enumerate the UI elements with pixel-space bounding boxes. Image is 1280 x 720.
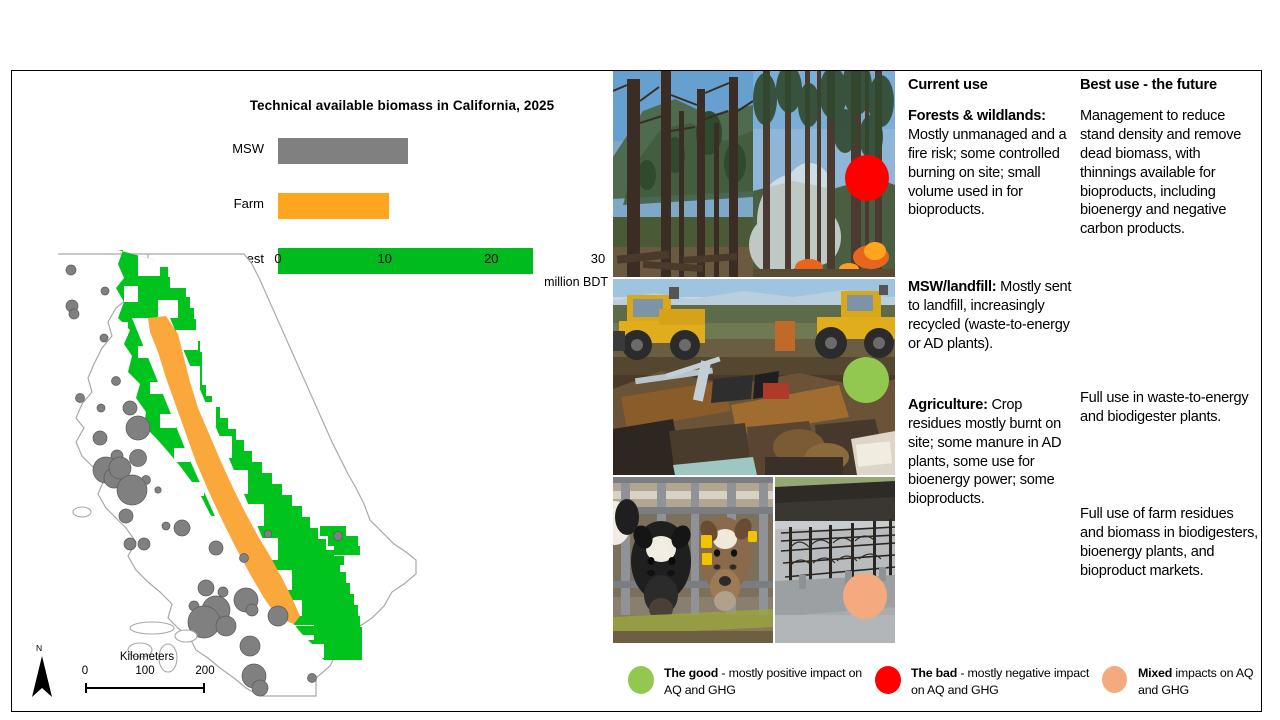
current-use-msw-title: MSW/landfill: xyxy=(908,279,996,295)
current-use-agriculture-title: Agriculture: xyxy=(908,397,988,413)
current-use-forests: Forests & wildlands: Mostly unmanaged an… xyxy=(908,107,1076,220)
msw-site xyxy=(126,416,150,440)
x-tick: 30 xyxy=(591,251,605,266)
current-use-forests-body: Mostly unmanaged and a fire risk; some c… xyxy=(908,127,1066,219)
left-panel: Technical available biomass in Californi… xyxy=(12,71,612,711)
scale-caption: Kilometers xyxy=(67,651,227,663)
impact-dot-good xyxy=(843,357,889,403)
msw-site xyxy=(101,287,109,295)
msw-site xyxy=(119,509,133,523)
msw-site xyxy=(155,487,161,493)
msw-site xyxy=(162,522,170,530)
legend-text-mixed: Mixed impacts on AQ and GHG xyxy=(1138,665,1272,698)
msw-site xyxy=(76,394,85,403)
best-use-column: Best use - the future Management to redu… xyxy=(1080,77,1260,581)
north-label: N xyxy=(36,643,42,653)
legend-text-good: The good - mostly positive impact on AQ … xyxy=(664,665,878,698)
msw-site xyxy=(124,538,136,550)
legend-item-good: The good - mostly positive impact on AQ … xyxy=(628,663,878,709)
bar-fill-farm xyxy=(278,193,389,219)
msw-site xyxy=(138,538,150,550)
msw-site xyxy=(123,401,137,415)
msw-site xyxy=(240,554,249,563)
best-use-heading: Best use - the future xyxy=(1080,77,1260,93)
landfill-photo xyxy=(613,279,895,475)
legend-item-mixed: Mixed impacts on AQ and GHG xyxy=(1102,663,1272,709)
forest-photo xyxy=(613,71,895,277)
current-use-forests-title: Forests & wildlands: xyxy=(908,108,1046,124)
current-use-msw: MSW/landfill: Mostly sent to landfill, i… xyxy=(908,278,1076,354)
bar-fill-msw xyxy=(278,138,408,164)
msw-site xyxy=(174,520,190,536)
current-use-agriculture-body: Crop residues mostly burnt on site; some… xyxy=(908,397,1061,507)
msw-site xyxy=(117,475,147,505)
msw-site xyxy=(216,616,236,636)
msw-site xyxy=(198,580,214,596)
msw-site xyxy=(97,404,105,412)
msw-site xyxy=(264,530,272,538)
bar-label-msw: MSW xyxy=(112,141,272,156)
current-use-heading: Current use xyxy=(908,77,1076,93)
chart-title: Technical available biomass in Californi… xyxy=(212,98,592,113)
bar-label-farm: Farm xyxy=(112,196,272,211)
photo-column xyxy=(613,71,895,661)
best-use-agriculture: Full use of farm residues and biomass in… xyxy=(1080,505,1260,581)
legend-dot-good xyxy=(628,666,654,694)
bar-row: MSW xyxy=(72,138,602,164)
msw-site xyxy=(334,532,343,541)
msw-site xyxy=(66,265,76,275)
bar-track xyxy=(278,193,598,219)
impact-dot-bad xyxy=(845,155,889,201)
msw-site xyxy=(218,587,228,597)
impact-dot-mixed xyxy=(843,573,887,619)
best-use-msw: Full use in waste-to-energy and biodiges… xyxy=(1080,389,1260,427)
msw-site xyxy=(69,309,79,319)
legend-dot-mixed xyxy=(1102,666,1127,693)
msw-site xyxy=(130,450,147,467)
bar-track xyxy=(278,138,598,164)
current-use-column: Current use Forests & wildlands: Mostly … xyxy=(908,77,1076,509)
msw-site xyxy=(268,606,288,626)
bar-row: Farm xyxy=(72,193,602,219)
msw-site xyxy=(209,541,223,555)
legend-dot-bad xyxy=(875,666,901,694)
legend-item-bad: The bad - mostly negative impact on AQ a… xyxy=(875,663,1105,709)
agriculture-photo xyxy=(613,477,895,643)
current-use-agriculture: Agriculture: Crop residues mostly burnt … xyxy=(908,396,1076,509)
msw-site xyxy=(100,334,108,342)
figure-panel: Technical available biomass in Californi… xyxy=(11,70,1262,712)
california-biomass-map xyxy=(20,226,490,711)
msw-site xyxy=(112,377,121,386)
msw-site xyxy=(93,431,107,445)
impact-legend: The good - mostly positive impact on AQ … xyxy=(20,663,1260,711)
legend-text-bad: The bad - mostly negative impact on AQ a… xyxy=(911,665,1105,698)
best-use-forests: Management to reduce stand density and r… xyxy=(1080,107,1260,239)
msw-site xyxy=(246,604,258,616)
